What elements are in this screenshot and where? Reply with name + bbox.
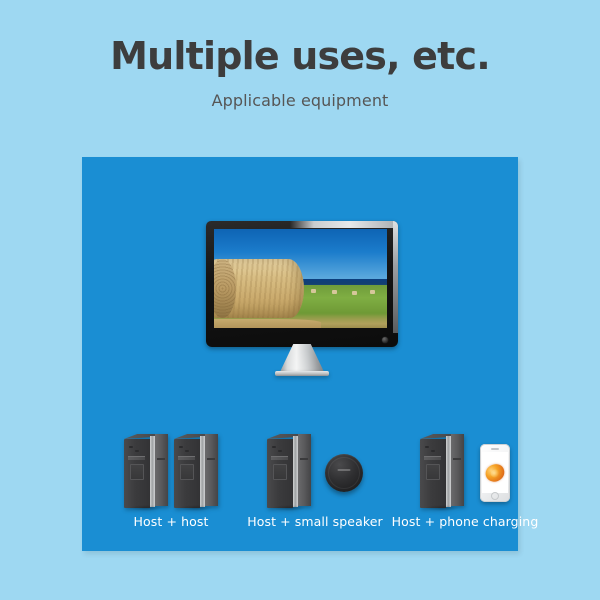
photo-distant-hay-bale <box>352 291 357 295</box>
phone-wallpaper <box>483 461 506 483</box>
monitor-screen <box>214 229 387 328</box>
device-row <box>372 422 558 508</box>
phone-home-button-icon[interactable] <box>491 492 499 500</box>
device-group-host-phone-charging: Host + phone charging <box>372 422 558 529</box>
smartphone <box>480 444 510 502</box>
tower-shadow <box>178 505 213 511</box>
speaker-ring <box>328 457 360 489</box>
photo-dirt-patch <box>214 319 321 328</box>
tower-shadow <box>424 505 459 511</box>
photo-distant-hay-bale <box>332 290 337 294</box>
tower-port <box>185 450 189 452</box>
tower-port <box>179 446 183 448</box>
pc-tower <box>267 434 311 508</box>
device-row <box>94 422 248 508</box>
tower-front-slot <box>207 458 215 460</box>
desktop-monitor <box>206 221 398 356</box>
pc-tower <box>124 434 168 508</box>
phone-screen <box>482 452 508 493</box>
tower-front-face <box>155 434 168 506</box>
tower-drive-bay <box>178 456 195 460</box>
monitor-stand-highlight <box>279 344 325 374</box>
tower-vent-grille <box>273 464 287 480</box>
tower-port <box>135 450 139 452</box>
phone-wallpaper-highlight <box>490 468 501 478</box>
tower-front-slot <box>300 458 308 460</box>
tower-front-slot <box>157 458 165 460</box>
tower-front-slot <box>453 458 461 460</box>
tower-drive-bay <box>424 456 441 460</box>
pc-tower <box>420 434 464 508</box>
monitor-bezel-highlight-top <box>290 221 398 228</box>
tower-port <box>431 450 435 452</box>
page-subtitle: Applicable equipment <box>0 77 600 110</box>
speaker-logo <box>338 469 351 471</box>
tower-shadow <box>128 505 163 511</box>
tower-front-face <box>451 434 464 506</box>
tower-drive-bay <box>271 456 288 460</box>
poster-root: Multiple uses, etc. Applicable equipment <box>0 0 600 600</box>
tower-front-face <box>205 434 218 506</box>
photo-distant-hay-bale <box>311 289 316 293</box>
monitor-bezel-highlight-right <box>393 221 398 333</box>
header: Multiple uses, etc. Applicable equipment <box>0 0 600 110</box>
tower-drive-bay <box>128 456 145 460</box>
monitor-bezel <box>206 221 398 347</box>
monitor-stand-base <box>275 371 329 376</box>
tower-port <box>278 450 282 452</box>
round-speaker <box>325 454 363 492</box>
tower-vent-grille <box>426 464 440 480</box>
photo-distant-hay-bale <box>370 290 375 294</box>
pc-tower <box>174 434 218 508</box>
tower-front-face <box>298 434 311 506</box>
tower-shadow <box>271 505 306 511</box>
phone-earpiece <box>491 448 499 450</box>
page-title: Multiple uses, etc. <box>0 0 600 77</box>
device-group-host-host: Host + host <box>94 422 248 529</box>
group-caption: Host + phone charging <box>372 514 558 529</box>
tower-vent-grille <box>180 464 194 480</box>
illustration-panel: Host + host <box>82 157 518 551</box>
tower-vent-grille <box>130 464 144 480</box>
tower-port <box>129 446 133 448</box>
tower-port <box>425 446 429 448</box>
power-button-icon[interactable] <box>382 337 388 343</box>
group-caption: Host + host <box>94 514 248 529</box>
tower-port <box>272 446 276 448</box>
